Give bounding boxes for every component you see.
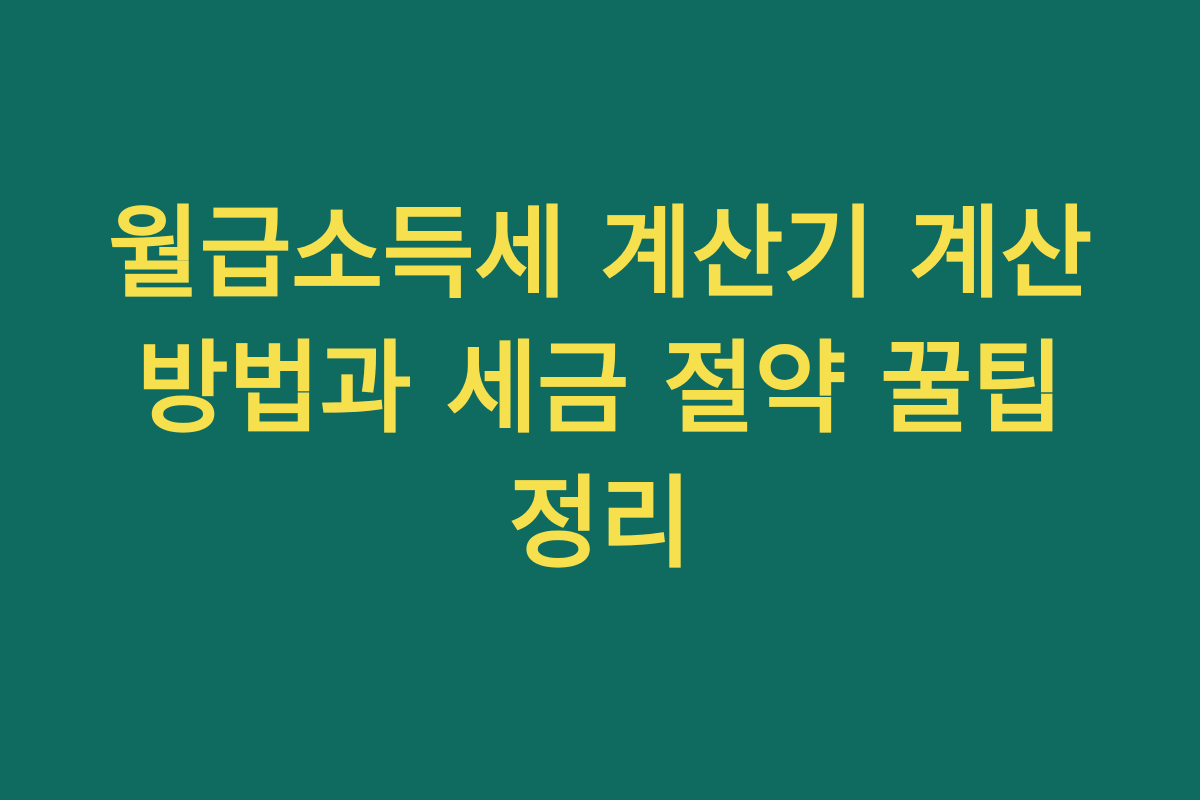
title-line-3: 정리 [80,456,1120,591]
page-title: 월급소득세 계산기 계산 방법과 세금 절약 꿀팁 정리 [80,186,1120,591]
thumbnail-canvas: 월급소득세 계산기 계산 방법과 세금 절약 꿀팁 정리 [0,0,1200,800]
title-line-1: 월급소득세 계산기 계산 [80,186,1120,321]
title-block: 월급소득세 계산기 계산 방법과 세금 절약 꿀팁 정리 [80,186,1120,591]
title-line-2: 방법과 세금 절약 꿀팁 [80,321,1120,456]
